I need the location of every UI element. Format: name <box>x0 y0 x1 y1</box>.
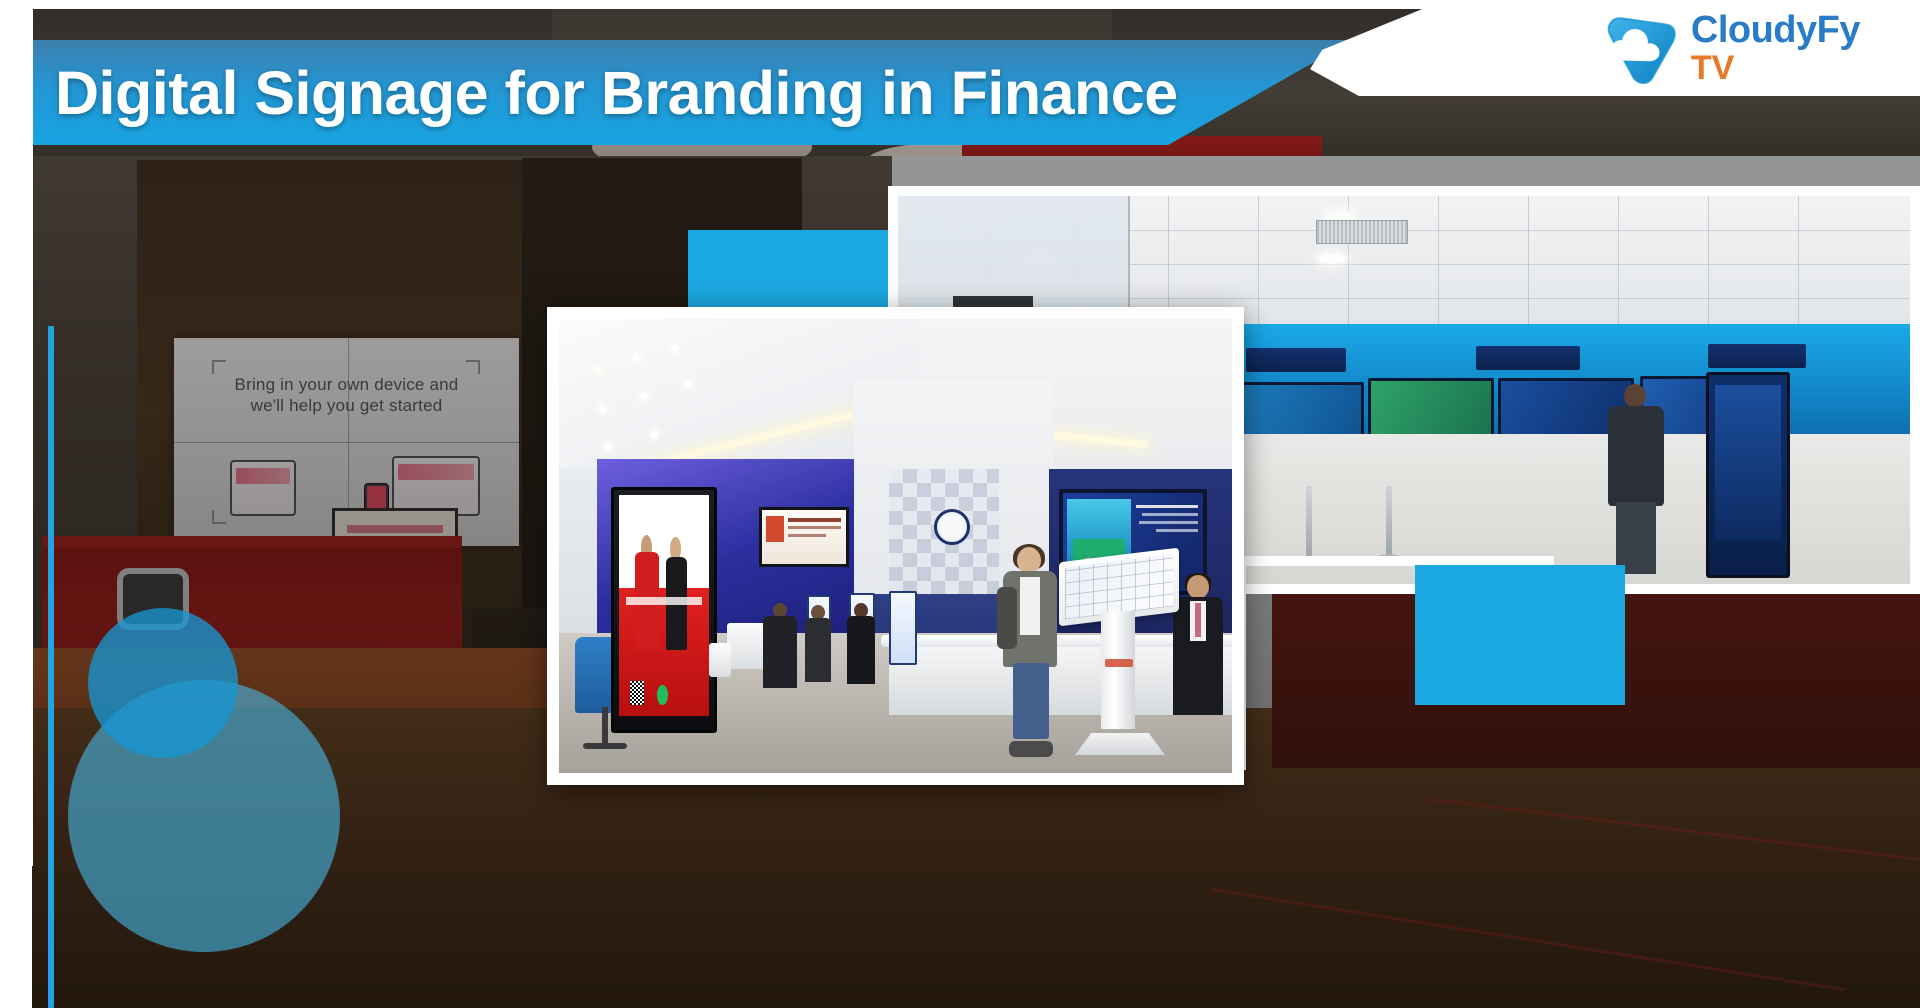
accent-cyan-block-right <box>1415 565 1625 705</box>
brand-name-secondary: TV <box>1691 51 1860 85</box>
pr-overhead-sign-2 <box>1476 346 1580 370</box>
left-white-margin <box>0 0 33 866</box>
pc-bank-staff <box>1171 575 1225 715</box>
pc-atm-3 <box>889 591 917 665</box>
pc-pedestal-2 <box>709 643 731 677</box>
accent-vertical-line <box>48 326 54 1008</box>
pc-person-3 <box>847 603 875 683</box>
slide-canvas: Bring in your own device and we'll help … <box>0 0 1920 1008</box>
pr-overhead-sign-1 <box>1246 348 1346 372</box>
pc-interactive-touch-table <box>1059 555 1179 755</box>
pc-customer <box>999 547 1061 757</box>
pc-wall-clock <box>934 509 970 545</box>
pr-standee-screen <box>1706 372 1790 578</box>
page-title: Digital Signage for Branding in Finance <box>55 48 1355 138</box>
pc-digital-standee <box>611 487 717 733</box>
pr-overhead-sign-3 <box>1708 344 1806 368</box>
pr-ceiling-vent <box>1316 220 1408 244</box>
decor-circle-small <box>88 608 238 758</box>
brand-wordmark: CloudyFy TV <box>1691 11 1860 85</box>
center-bank-branch-photo <box>547 307 1244 785</box>
brand-name-primary: CloudyFy <box>1691 11 1860 49</box>
pc-wall-poster-screen <box>759 507 849 567</box>
pr-downlight-4 <box>1318 254 1346 264</box>
cloud-play-logo-icon <box>1601 12 1679 84</box>
pr-visitor <box>1602 384 1670 574</box>
pc-person-2 <box>805 605 831 681</box>
brand-logo[interactable]: CloudyFy TV <box>1601 8 1860 88</box>
pc-person-1 <box>763 603 797 687</box>
pr-queue-post-2 <box>1306 486 1312 566</box>
pr-queue-post-3 <box>1386 486 1392 560</box>
